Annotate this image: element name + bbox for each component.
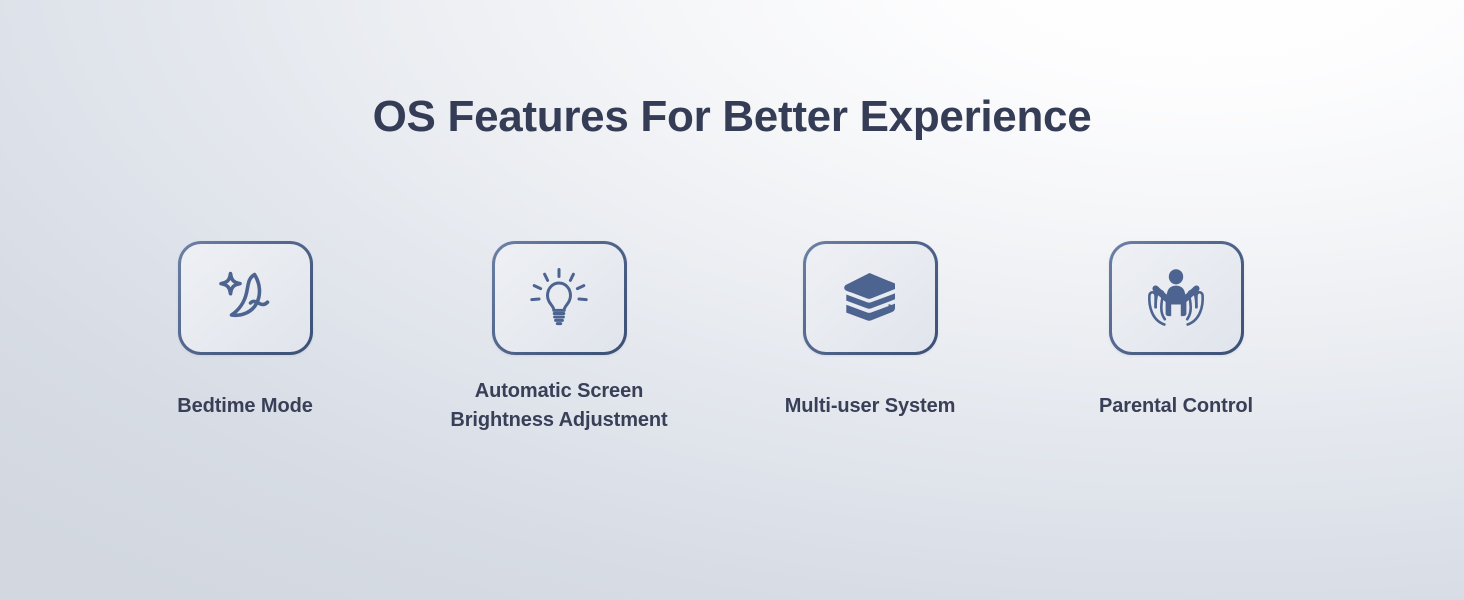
icon-frame <box>1109 241 1244 355</box>
feature-list: Bedtime Mode <box>0 241 1464 501</box>
feature-label: Bedtime Mode <box>115 392 375 421</box>
page-title: OS Features For Better Experience <box>0 92 1464 142</box>
feature-label-line2: Brightness Adjustment <box>429 406 689 435</box>
icon-frame <box>492 241 627 355</box>
feature-item-parental-control[interactable]: Parental Control <box>1046 241 1306 421</box>
feature-label: Multi-user System <box>740 392 1000 421</box>
lightbulb-icon <box>522 261 596 335</box>
moon-star-icon <box>208 261 282 335</box>
feature-item-auto-brightness[interactable]: Automatic Screen Brightness Adjustment <box>429 241 689 435</box>
layers-stack-icon <box>833 261 907 335</box>
feature-label: Parental Control <box>1046 392 1306 421</box>
icon-frame <box>803 241 938 355</box>
icon-frame <box>178 241 313 355</box>
os-features-banner: OS Features For Better Experience Bedtim… <box>0 0 1464 600</box>
hands-child-icon <box>1139 261 1213 335</box>
feature-item-bedtime-mode[interactable]: Bedtime Mode <box>115 241 375 421</box>
feature-label: Automatic Screen Brightness Adjustment <box>429 377 689 435</box>
feature-item-multi-user[interactable]: Multi-user System <box>740 241 1000 421</box>
feature-label-line1: Automatic Screen <box>429 377 689 406</box>
